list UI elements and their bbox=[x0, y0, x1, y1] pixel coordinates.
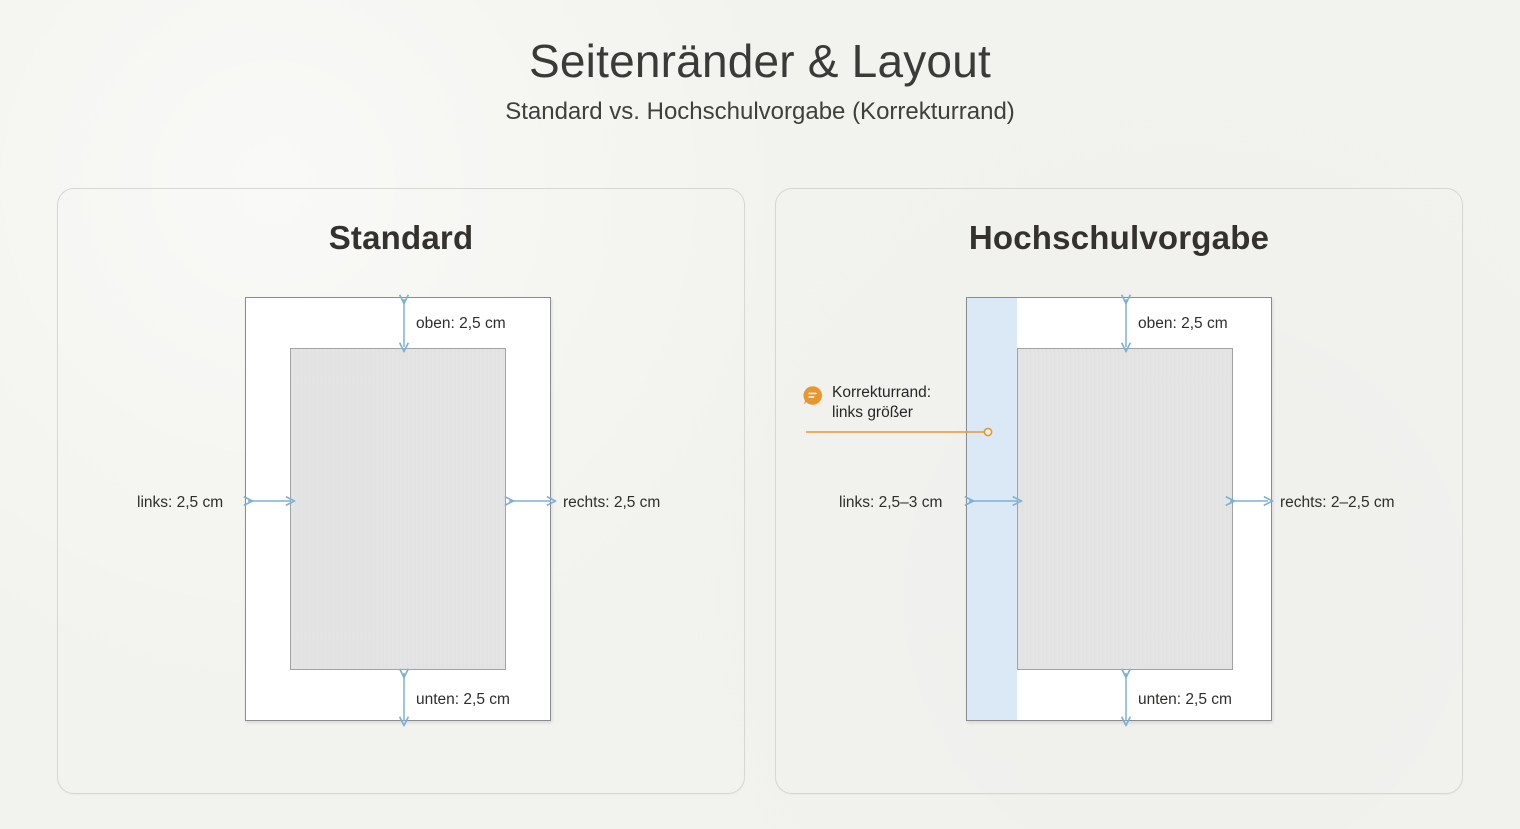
annotation-text: Korrekturrand: links größer bbox=[832, 383, 931, 424]
arrow-right-hochschulvorgabe bbox=[1228, 495, 1270, 507]
page-subtitle: Standard vs. Hochschulvorgabe (Korrektur… bbox=[0, 88, 1520, 126]
annotation-korrekturrand[interactable]: Korrekturrand: links größer bbox=[802, 383, 931, 424]
page-sheet-standard bbox=[245, 297, 551, 721]
arrow-left-standard bbox=[246, 495, 292, 507]
label-margin-left-standard: links: 2,5 cm bbox=[137, 495, 223, 511]
page-sheet-hochschulvorgabe bbox=[966, 297, 1272, 721]
label-margin-left-hochschulvorgabe: links: 2,5–3 cm bbox=[839, 495, 942, 511]
arrow-left-hochschulvorgabe bbox=[967, 495, 1019, 507]
label-margin-bottom-standard: unten: 2,5 cm bbox=[416, 692, 510, 708]
annotation-leader-line bbox=[806, 426, 996, 438]
arrow-right-standard bbox=[507, 495, 553, 507]
panel-standard[interactable]: Standard oben: 2,5 cm bbox=[57, 188, 745, 794]
text-block-hochschulvorgabe bbox=[1017, 348, 1233, 670]
label-margin-bottom-hochschulvorgabe: unten: 2,5 cm bbox=[1138, 692, 1232, 708]
correction-margin-strip bbox=[967, 298, 1017, 720]
page-title: Seitenränder & Layout bbox=[0, 0, 1520, 88]
arrow-bottom-standard bbox=[398, 671, 410, 723]
panel-hochschulvorgabe[interactable]: Hochschulvorgabe oben: 2,5 cm unten: 2,5… bbox=[775, 188, 1463, 794]
label-margin-top-standard: oben: 2,5 cm bbox=[416, 316, 506, 332]
label-margin-right-hochschulvorgabe: rechts: 2–2,5 cm bbox=[1280, 495, 1395, 511]
label-margin-top-hochschulvorgabe: oben: 2,5 cm bbox=[1138, 316, 1228, 332]
arrow-bottom-hochschulvorgabe bbox=[1120, 671, 1132, 723]
text-block-standard bbox=[290, 348, 506, 670]
note-icon bbox=[802, 385, 823, 406]
arrow-top-hochschulvorgabe bbox=[1120, 297, 1132, 349]
page-header: Seitenränder & Layout Standard vs. Hochs… bbox=[0, 0, 1520, 126]
arrow-top-standard bbox=[398, 297, 410, 349]
panels-container: Standard oben: 2,5 cm bbox=[57, 188, 1463, 794]
label-margin-right-standard: rechts: 2,5 cm bbox=[563, 495, 660, 511]
standard-diagram: oben: 2,5 cm unten: 2,5 cm links: 2,5 cm bbox=[58, 189, 744, 793]
hochschulvorgabe-diagram: oben: 2,5 cm unten: 2,5 cm links: 2,5–3 … bbox=[776, 189, 1462, 793]
